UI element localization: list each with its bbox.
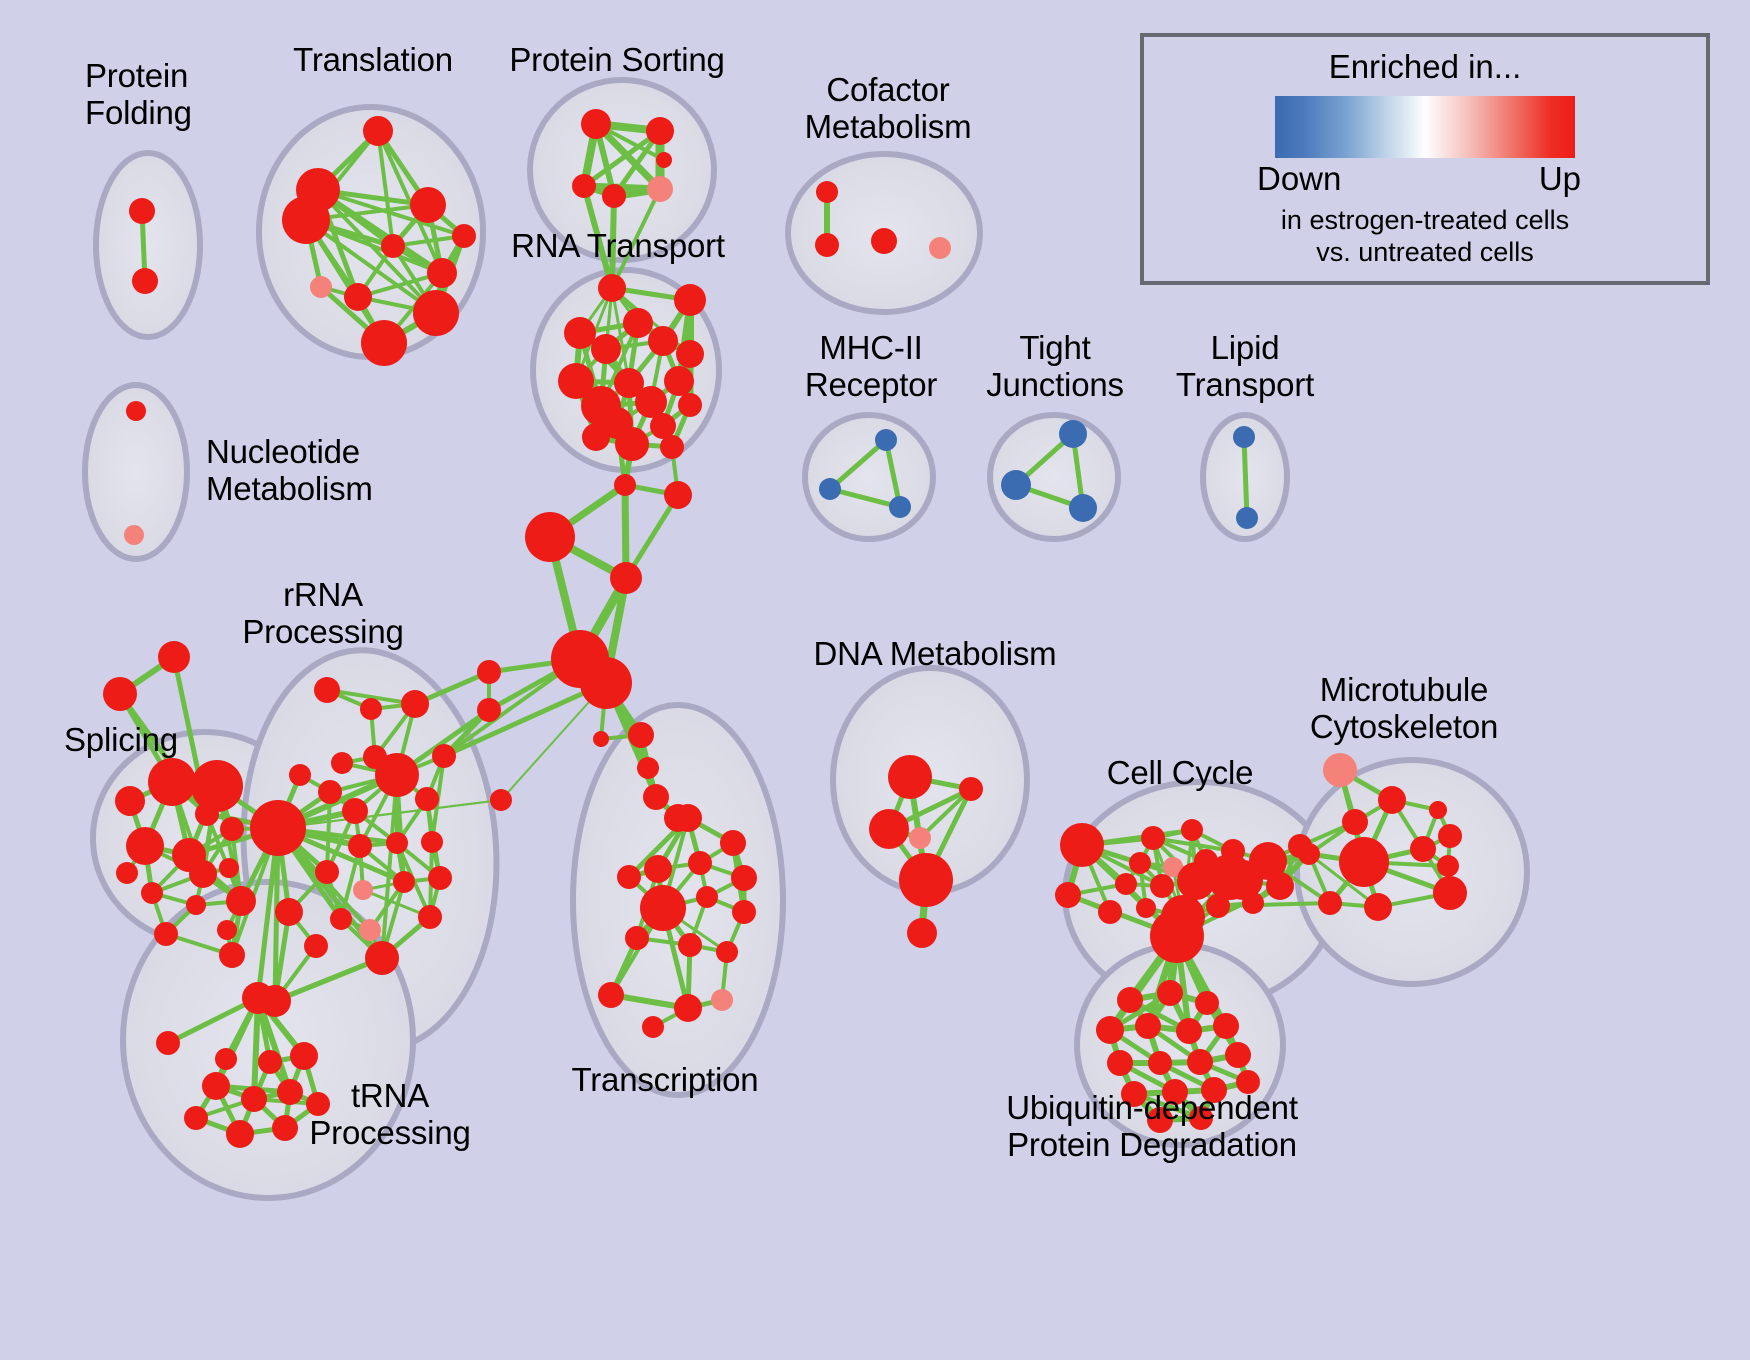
node-rrna-processing[interactable]: [318, 780, 342, 804]
node-rrna-processing[interactable]: [386, 832, 408, 854]
node-rrna-processing[interactable]: [360, 698, 382, 720]
node-cell-cycle[interactable]: [1242, 892, 1264, 914]
node-splicing[interactable]: [115, 786, 145, 816]
node-interconnector[interactable]: [525, 512, 575, 562]
node-trna-processing[interactable]: [184, 1106, 208, 1130]
node-splicing[interactable]: [195, 802, 219, 826]
node-trna-processing[interactable]: [277, 1079, 303, 1105]
node-translation[interactable]: [282, 196, 330, 244]
node-rrna-processing[interactable]: [418, 905, 442, 929]
node-transcription[interactable]: [625, 926, 649, 950]
node-protein-sorting[interactable]: [646, 117, 674, 145]
node-splicing[interactable]: [191, 760, 243, 812]
node-ubiquitin-degradation[interactable]: [1107, 1050, 1133, 1076]
node-microtubule-cytoskeleton[interactable]: [1323, 753, 1357, 787]
node-microtubule-cytoskeleton[interactable]: [1437, 855, 1459, 877]
cluster-label-splicing: Splicing: [64, 722, 178, 759]
node-rna-transport[interactable]: [678, 393, 702, 417]
cluster-label-dna-metabolism: DNA Metabolism: [814, 636, 1057, 673]
node-rna-transport[interactable]: [564, 317, 596, 349]
node-cell-cycle[interactable]: [1207, 854, 1253, 900]
node-trna-processing[interactable]: [242, 982, 274, 1014]
node-cell-cycle[interactable]: [1098, 900, 1122, 924]
node-cell-cycle[interactable]: [1060, 823, 1104, 867]
node-splicing[interactable]: [226, 886, 256, 916]
node-transcription[interactable]: [674, 994, 702, 1022]
node-interconnector[interactable]: [610, 562, 642, 594]
node-cofactor-metabolism[interactable]: [815, 233, 839, 257]
node-rna-transport[interactable]: [660, 435, 684, 459]
node-interconnector[interactable]: [628, 722, 654, 748]
legend-title: Enriched in...: [1144, 48, 1706, 86]
node-tight-junctions[interactable]: [1069, 494, 1097, 522]
hull-mhc-ii: [805, 415, 933, 539]
node-microtubule-cytoskeleton[interactable]: [1433, 876, 1467, 910]
cluster-label-translation: Translation: [293, 42, 453, 79]
node-cell-cycle[interactable]: [1141, 826, 1165, 850]
node-microtubule-cytoskeleton[interactable]: [1410, 836, 1436, 862]
node-cell-cycle[interactable]: [1136, 898, 1156, 918]
node-trna-processing[interactable]: [156, 1031, 180, 1055]
node-protein-folding[interactable]: [132, 268, 158, 294]
cluster-label-tight-junctions: Tight Junctions: [986, 330, 1124, 404]
node-lipid-transport[interactable]: [1233, 426, 1255, 448]
node-rrna-processing[interactable]: [342, 798, 368, 824]
node-splicing[interactable]: [126, 827, 164, 865]
cluster-label-cell-cycle: Cell Cycle: [1107, 755, 1254, 792]
node-rrna-processing[interactable]: [315, 860, 339, 884]
node-interconnector[interactable]: [477, 660, 501, 684]
node-rrna-processing[interactable]: [304, 934, 328, 958]
node-lipid-transport[interactable]: [1236, 507, 1258, 529]
node-transcription[interactable]: [617, 865, 641, 889]
network-edge: [444, 683, 606, 756]
node-rrna-processing[interactable]: [421, 831, 443, 853]
node-interconnector[interactable]: [593, 731, 609, 747]
node-rna-transport[interactable]: [591, 334, 621, 364]
node-interconnector[interactable]: [490, 789, 512, 811]
node-rrna-processing[interactable]: [375, 753, 419, 797]
node-translation[interactable]: [381, 234, 405, 258]
node-microtubule-cytoskeleton[interactable]: [1339, 837, 1389, 887]
node-cofactor-metabolism[interactable]: [871, 228, 897, 254]
node-dna-metabolism[interactable]: [909, 827, 931, 849]
node-rrna-processing[interactable]: [393, 871, 415, 893]
cluster-label-lipid-transport: Lipid Transport: [1176, 330, 1314, 404]
node-rrna-processing[interactable]: [331, 752, 353, 774]
node-transcription[interactable]: [688, 851, 712, 875]
node-splicing[interactable]: [158, 641, 190, 673]
node-interconnector[interactable]: [637, 757, 659, 779]
node-cofactor-metabolism[interactable]: [929, 237, 951, 259]
node-ubiquitin-degradation[interactable]: [1187, 1049, 1213, 1075]
cluster-label-mhc-ii-receptor: MHC-II Receptor: [805, 330, 937, 404]
node-rna-transport[interactable]: [615, 427, 649, 461]
node-rna-transport[interactable]: [664, 366, 694, 396]
node-rrna-processing[interactable]: [289, 764, 311, 786]
cluster-label-ubiquitin-degradation: Ubiquitin-dependent Protein Degradation: [1006, 1090, 1298, 1164]
node-microtubule-cytoskeleton[interactable]: [1318, 891, 1342, 915]
enrichment-map-figure: Protein FoldingTranslationProtein Sortin…: [0, 0, 1750, 1360]
node-ubiquitin-degradation[interactable]: [1176, 1018, 1202, 1044]
node-transcription[interactable]: [720, 830, 746, 856]
node-translation[interactable]: [344, 283, 372, 311]
node-cofactor-metabolism[interactable]: [816, 181, 838, 203]
node-ubiquitin-degradation[interactable]: [1148, 1051, 1172, 1075]
node-microtubule-cytoskeleton[interactable]: [1364, 893, 1392, 921]
node-splicing[interactable]: [116, 862, 138, 884]
node-ubiquitin-degradation[interactable]: [1157, 980, 1183, 1006]
cluster-label-cofactor-metabolism: Cofactor Metabolism: [805, 72, 972, 146]
node-transcription[interactable]: [732, 900, 756, 924]
node-protein-sorting[interactable]: [572, 174, 596, 198]
node-rna-transport[interactable]: [582, 423, 610, 451]
node-mhc-ii-receptor[interactable]: [889, 496, 911, 518]
node-microtubule-cytoskeleton[interactable]: [1429, 801, 1447, 819]
node-rrna-processing[interactable]: [428, 866, 452, 890]
node-ubiquitin-degradation[interactable]: [1096, 1016, 1124, 1044]
node-dna-metabolism[interactable]: [888, 755, 932, 799]
node-transcription[interactable]: [696, 886, 718, 908]
cluster-label-rna-transport: RNA Transport: [511, 228, 725, 265]
node-rrna-processing[interactable]: [365, 941, 399, 975]
node-rrna-processing[interactable]: [314, 677, 340, 703]
node-rrna-processing[interactable]: [432, 744, 456, 768]
node-trna-processing[interactable]: [202, 1072, 230, 1100]
node-rna-transport[interactable]: [676, 340, 704, 368]
node-microtubule-cytoskeleton[interactable]: [1342, 809, 1368, 835]
node-splicing[interactable]: [141, 882, 163, 904]
node-translation[interactable]: [361, 320, 407, 366]
node-trna-processing[interactable]: [272, 1115, 298, 1141]
node-translation[interactable]: [452, 224, 476, 248]
legend-caption: in estrogen-treated cells vs. untreated …: [1144, 204, 1706, 269]
node-cell-cycle[interactable]: [1150, 909, 1204, 963]
node-cell-cycle[interactable]: [1115, 873, 1137, 895]
node-ubiquitin-degradation[interactable]: [1213, 1013, 1239, 1039]
node-interconnector[interactable]: [664, 481, 692, 509]
node-transcription[interactable]: [644, 855, 672, 883]
node-splicing[interactable]: [186, 895, 206, 915]
node-transcription[interactable]: [678, 933, 702, 957]
node-translation[interactable]: [310, 276, 332, 298]
node-dna-metabolism[interactable]: [899, 853, 953, 907]
node-nucleotide-metabolism[interactable]: [126, 401, 146, 421]
node-rrna-processing[interactable]: [275, 898, 303, 926]
node-interconnector[interactable]: [643, 784, 669, 810]
node-rrna-processing[interactable]: [415, 787, 439, 811]
cluster-label-trna-processing: tRNA Processing: [309, 1078, 470, 1152]
node-mhc-ii-receptor[interactable]: [819, 478, 841, 500]
network-edge: [1244, 437, 1247, 518]
node-dna-metabolism[interactable]: [869, 809, 909, 849]
node-protein-sorting[interactable]: [602, 184, 626, 208]
node-rna-transport[interactable]: [674, 284, 706, 316]
node-interconnector[interactable]: [614, 474, 636, 496]
node-splicing[interactable]: [219, 942, 245, 968]
node-ubiquitin-degradation[interactable]: [1117, 987, 1143, 1013]
cluster-label-rrna-processing: rRNA Processing: [242, 577, 403, 651]
node-trna-processing[interactable]: [241, 1086, 267, 1112]
node-rrna-processing[interactable]: [353, 880, 373, 900]
node-transcription[interactable]: [598, 982, 624, 1008]
node-rna-transport[interactable]: [598, 274, 626, 302]
node-rna-transport[interactable]: [623, 308, 653, 338]
node-protein-sorting[interactable]: [656, 152, 672, 168]
node-rrna-processing[interactable]: [330, 908, 352, 930]
node-transcription[interactable]: [640, 885, 686, 931]
cluster-label-microtubule-cytoskeleton: Microtubule Cytoskeleton: [1310, 672, 1498, 746]
node-transcription[interactable]: [731, 865, 757, 891]
cluster-label-protein-sorting: Protein Sorting: [509, 42, 724, 79]
node-cell-cycle[interactable]: [1266, 872, 1294, 900]
hull-protein-folding: [96, 153, 200, 337]
node-trna-processing[interactable]: [215, 1048, 237, 1070]
node-splicing[interactable]: [220, 817, 244, 841]
node-ubiquitin-degradation[interactable]: [1225, 1042, 1251, 1068]
node-microtubule-cytoskeleton[interactable]: [1378, 786, 1406, 814]
node-mhc-ii-receptor[interactable]: [875, 429, 897, 451]
node-splicing[interactable]: [189, 860, 217, 888]
node-translation[interactable]: [413, 290, 459, 336]
node-tight-junctions[interactable]: [1001, 470, 1031, 500]
node-interconnector[interactable]: [477, 698, 501, 722]
legend-high-label: Up: [1539, 160, 1581, 198]
node-splicing[interactable]: [154, 922, 178, 946]
node-cell-cycle[interactable]: [1206, 894, 1230, 918]
node-tight-junctions[interactable]: [1059, 420, 1087, 448]
node-translation[interactable]: [363, 116, 393, 146]
node-translation[interactable]: [410, 187, 446, 223]
legend-color-gradient: [1275, 96, 1575, 158]
node-interconnector[interactable]: [664, 804, 692, 832]
node-cell-cycle[interactable]: [1055, 882, 1081, 908]
legend-low-label: Down: [1257, 160, 1341, 198]
node-protein-folding[interactable]: [129, 198, 155, 224]
node-trna-processing[interactable]: [226, 1120, 254, 1148]
node-rna-transport[interactable]: [648, 326, 678, 356]
node-rrna-processing[interactable]: [359, 919, 381, 941]
node-nucleotide-metabolism[interactable]: [124, 525, 144, 545]
node-interconnector[interactable]: [580, 657, 632, 709]
legend-box: Enriched in... Down Up in estrogen-treat…: [1140, 33, 1710, 285]
node-protein-sorting[interactable]: [647, 176, 673, 202]
node-microtubule-cytoskeleton[interactable]: [1298, 843, 1320, 865]
cluster-label-protein-folding: Protein Folding: [85, 58, 192, 132]
node-trna-processing[interactable]: [290, 1042, 318, 1070]
node-rrna-processing[interactable]: [348, 834, 372, 858]
node-splicing[interactable]: [217, 920, 237, 940]
node-splicing[interactable]: [219, 858, 239, 878]
node-transcription[interactable]: [642, 1016, 664, 1038]
node-transcription[interactable]: [716, 941, 738, 963]
node-rrna-processing[interactable]: [401, 690, 429, 718]
cluster-label-nucleotide-metabolism: Nucleotide Metabolism: [206, 434, 373, 508]
node-splicing[interactable]: [148, 758, 196, 806]
node-translation[interactable]: [427, 258, 457, 288]
node-splicing[interactable]: [103, 677, 137, 711]
node-dna-metabolism[interactable]: [907, 918, 937, 948]
node-cell-cycle[interactable]: [1129, 852, 1151, 874]
node-dna-metabolism[interactable]: [959, 777, 983, 801]
node-rrna-processing[interactable]: [250, 800, 306, 856]
node-ubiquitin-degradation[interactable]: [1195, 991, 1219, 1015]
node-trna-processing[interactable]: [258, 1050, 282, 1074]
node-cell-cycle[interactable]: [1181, 819, 1203, 841]
node-ubiquitin-degradation[interactable]: [1135, 1013, 1161, 1039]
cluster-label-transcription: Transcription: [572, 1062, 759, 1099]
node-transcription[interactable]: [711, 989, 733, 1011]
node-protein-sorting[interactable]: [581, 109, 611, 139]
node-cell-cycle[interactable]: [1150, 874, 1174, 898]
node-microtubule-cytoskeleton[interactable]: [1438, 824, 1462, 848]
